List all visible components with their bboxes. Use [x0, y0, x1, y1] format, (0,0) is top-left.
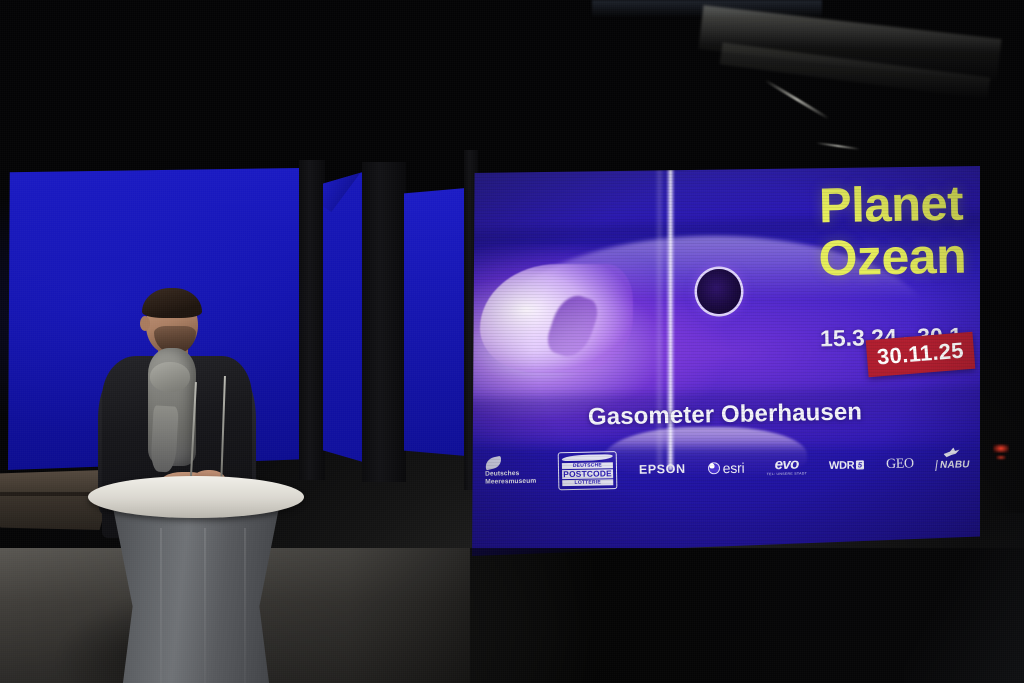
backdrop-panel-3 [404, 188, 466, 456]
backdrop-panel-2 [323, 172, 363, 462]
banner-venue: Gasometer Oberhausen [588, 398, 863, 431]
wdr-label: WDR [829, 459, 855, 471]
podium-fold-3 [244, 528, 246, 683]
podium-fold-1 [160, 528, 162, 683]
red-indicator-light [993, 444, 1009, 453]
logo-wdr: WDR 5 [829, 459, 864, 472]
evo-label: evo [775, 457, 799, 472]
corner-glow [904, 513, 1024, 683]
shark-eye-icon [697, 269, 741, 314]
esri-label: esri [723, 459, 745, 475]
postcode-line3: LOTTERIE [563, 479, 614, 486]
speaker-hair [142, 288, 202, 318]
red-indicator-light-small [996, 455, 1006, 460]
bench-slat [0, 492, 102, 496]
evo-tagline: TEL: UNSERE STADT [767, 472, 807, 476]
bird-icon [944, 447, 960, 457]
wdr-badge: 5 [856, 461, 864, 470]
postcode-swoosh-icon [562, 454, 613, 461]
logo-nabu: NABU [936, 456, 970, 471]
banner-title-line1: Planet [818, 177, 963, 234]
podium-skirt [108, 500, 284, 683]
globe-icon [708, 462, 720, 474]
scene-root: Planet Ozean 15.3.24 - 30.1 30.11.25 Gas… [0, 0, 1024, 683]
hall-pillar-2 [362, 162, 406, 482]
speaker-scarf-knot [150, 362, 190, 392]
banner-title: Planet Ozean [817, 181, 964, 283]
logo-epson: EPSON [639, 461, 686, 476]
hall-pillar-1 [299, 160, 325, 480]
podium-fold-2 [204, 528, 206, 683]
led-banner[interactable]: Planet Ozean 15.3.24 - 30.1 30.11.25 Gas… [470, 166, 980, 556]
podium-tabletop [88, 476, 304, 518]
logo-evo: evo TEL: UNSERE STADT [767, 457, 808, 477]
logo-deutsches-meeresmuseum: Deutsches Meeresmuseum [485, 457, 537, 487]
postcode-line2: POSTCODE [562, 469, 613, 479]
logo-deutsche-postcode-lotterie: DEUTSCHE POSTCODE LOTTERIE [558, 451, 617, 490]
dmm-line2: Meeresmuseum [485, 478, 536, 487]
podium-table [88, 476, 304, 683]
speaker-ear [140, 316, 150, 331]
logo-esri: esri [708, 459, 745, 476]
banner-title-line2: Ozean [818, 232, 966, 283]
logo-geo: GEO [886, 456, 914, 473]
nabu-label: NABU [935, 459, 970, 471]
wave-mark-icon [484, 456, 503, 471]
